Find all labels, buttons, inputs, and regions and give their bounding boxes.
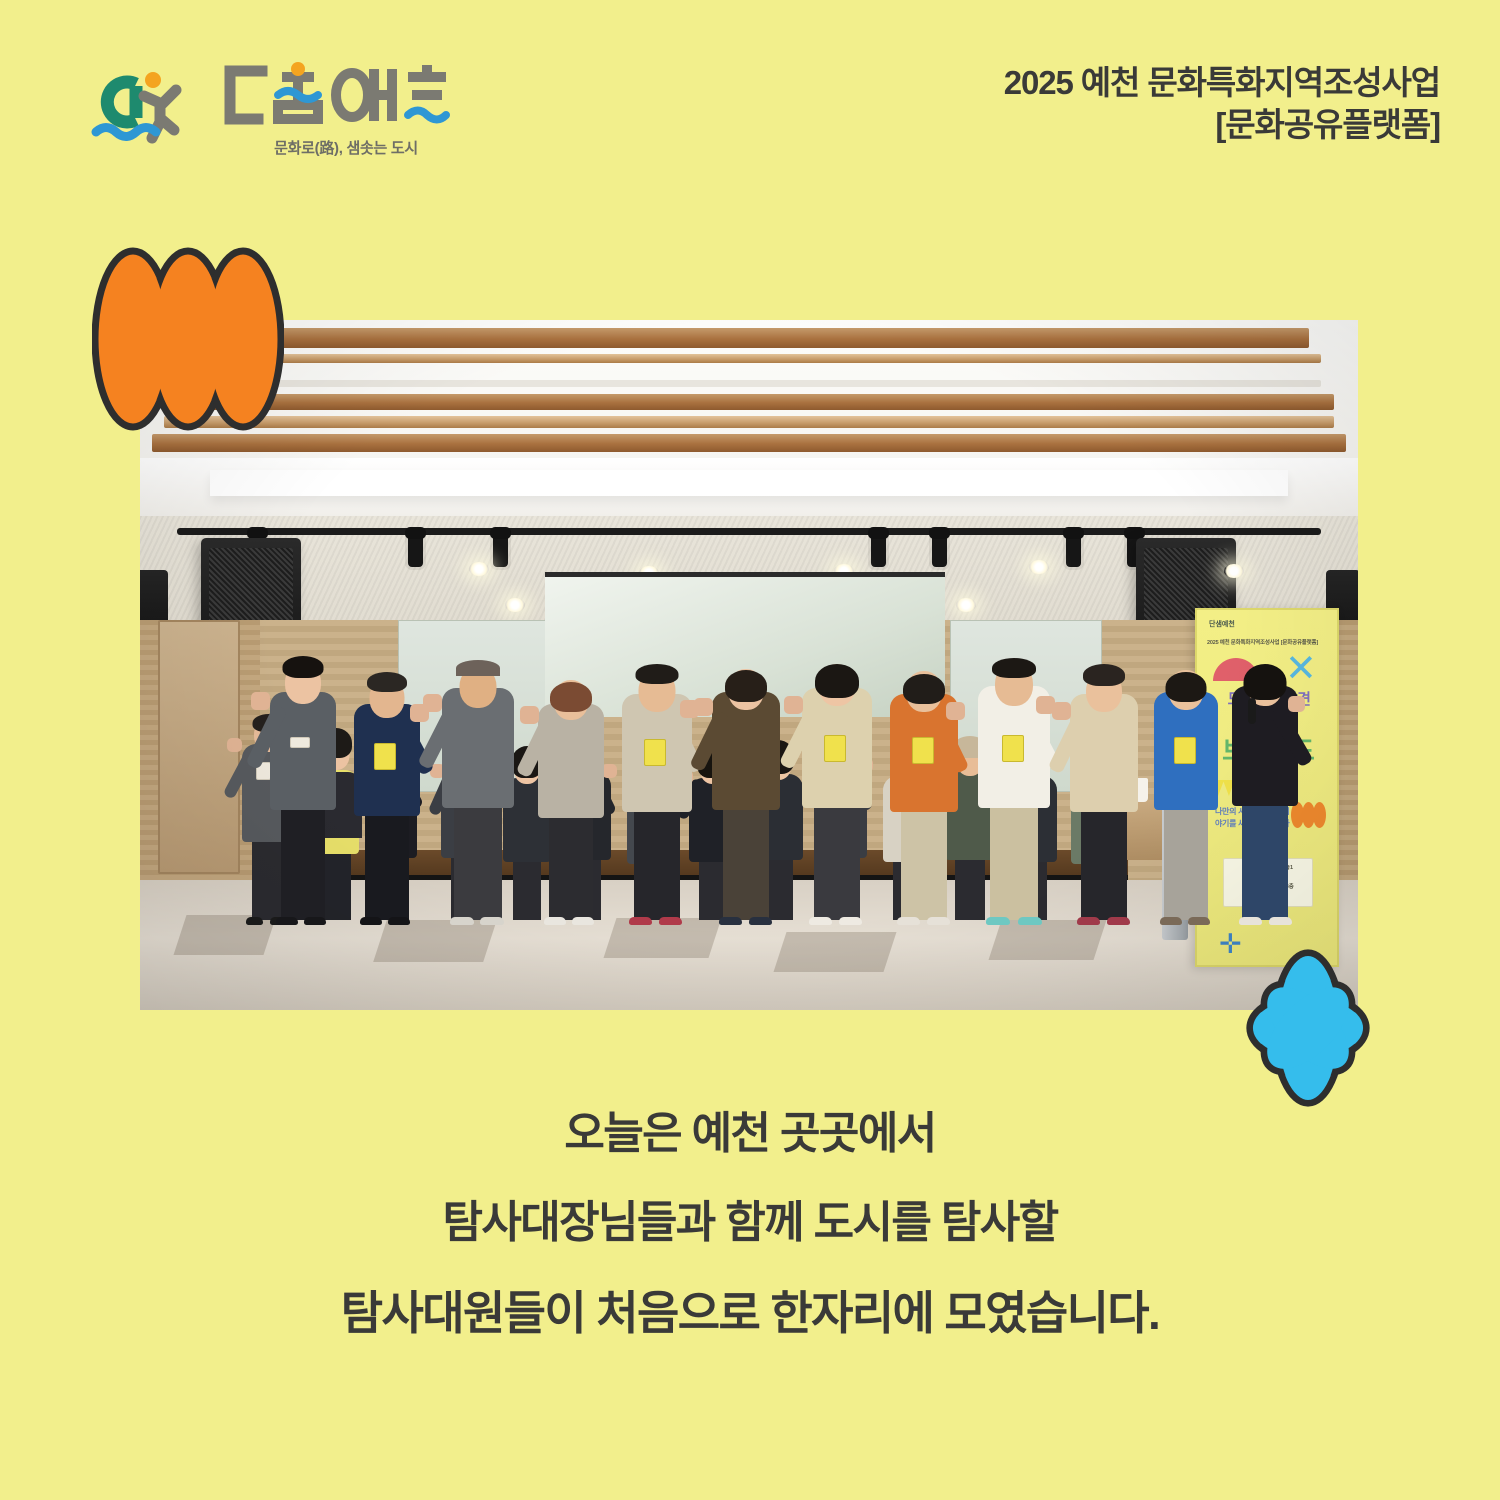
banner-logo: 단샘예천 [1209, 619, 1235, 629]
microphone-icon [1248, 698, 1256, 724]
participant [888, 662, 960, 920]
downlight [469, 562, 489, 576]
caption-block: 오늘은 예천 곳곳에서 탐사대장님들과 함께 도시를 탐사할 탐사대원들이 처음… [0, 1112, 1500, 1336]
participant [352, 668, 422, 920]
brand-logo: 문화로(路), 샘솟는 도시 [86, 55, 456, 165]
ceiling-beam [189, 328, 1310, 348]
downlight [1029, 560, 1049, 574]
banner-subtitle: 2025 예천 문화특화지역조성사업 [문화공유플랫폼] [1207, 638, 1329, 646]
brand-wordmark [222, 61, 454, 131]
caption-line-3: 탐사대원들이 처음으로 한자리에 모였습니다. [0, 1290, 1500, 1336]
participant [1152, 658, 1220, 920]
floor-tile [989, 920, 1107, 960]
caption-line-2: 탐사대장님들과 함께 도시를 탐사할 [0, 1201, 1500, 1245]
track-spotlight [1066, 533, 1081, 567]
floor-tile [774, 932, 897, 972]
participant [710, 658, 782, 920]
floor-tile [373, 920, 497, 962]
brand-tagline: 문화로(路), 샘솟는 도시 [236, 137, 456, 158]
participant [620, 662, 694, 920]
participant-with-microphone [1230, 652, 1300, 920]
participant [976, 654, 1052, 920]
group-photo: 단샘예천 2025 예천 문화특화지역조성사업 [문화공유플랫폼] ✕ 도시의 … [140, 320, 1358, 1010]
participant [268, 652, 338, 920]
track-spotlight [871, 533, 886, 567]
participant [536, 670, 606, 920]
track-spotlight [408, 533, 423, 567]
track-spotlight [932, 533, 947, 567]
participants-group [140, 620, 1358, 920]
ceiling-beam [152, 434, 1346, 452]
ceiling-light-strip [177, 380, 1322, 387]
lighting-track [177, 528, 1322, 535]
caption-line-1: 오늘은 예천 곳곳에서 [0, 1112, 1500, 1156]
card-news-slide: 문화로(路), 샘솟는 도시 2025 예천 문화특화지역조성사업 [문화공유플… [0, 0, 1500, 1500]
photo-scene: 단샘예천 2025 예천 문화특화지역조성사업 [문화공유플랫폼] ✕ 도시의 … [140, 320, 1358, 1010]
ceiling-beam [164, 416, 1333, 428]
track-spotlight [493, 533, 508, 567]
participant [800, 654, 874, 920]
ceiling-beam [164, 394, 1333, 410]
participant [1068, 662, 1140, 920]
downlight [1224, 564, 1244, 578]
program-title-line-2: [문화공유플랫폼] [1004, 104, 1440, 146]
ceiling-beam [177, 354, 1322, 363]
three-ellipse-orange-shape-icon [92, 243, 284, 435]
program-title-line-1: 2025 예천 문화특화지역조성사업 [1004, 62, 1440, 104]
dansaem-yecheon-logo-icon [86, 60, 214, 148]
downlight [956, 598, 976, 612]
participant [440, 658, 516, 920]
soffit-shadow [210, 470, 1288, 496]
program-title: 2025 예천 문화특화지역조성사업 [문화공유플랫폼] [1004, 62, 1440, 146]
eight-petal-blue-flower-icon [1213, 948, 1403, 1108]
